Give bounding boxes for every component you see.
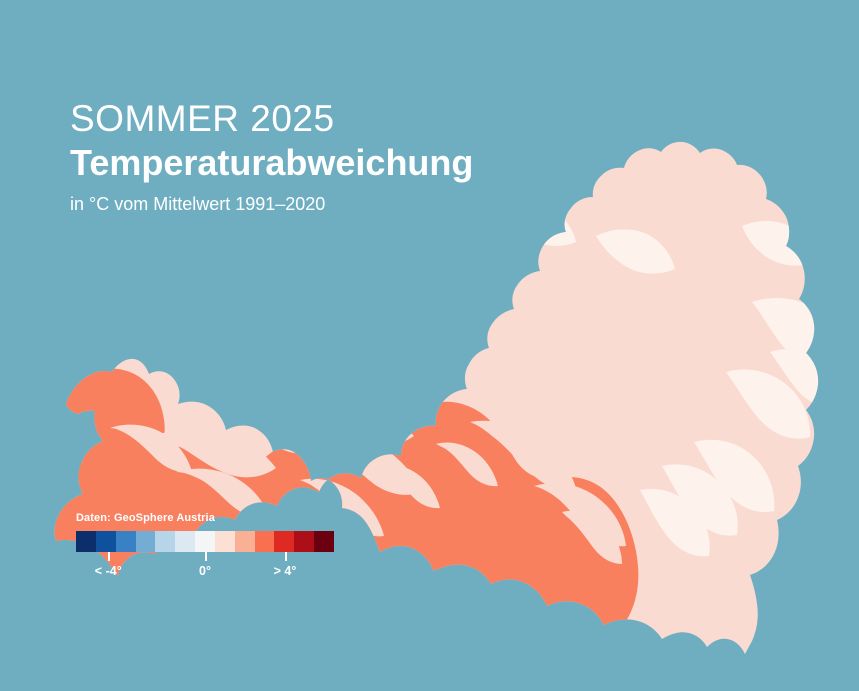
legend-swatch-7 (215, 531, 235, 552)
legend-colorbar (76, 531, 334, 552)
legend-swatch-5 (175, 531, 195, 552)
legend-tick-1 (205, 552, 207, 561)
title-block: SOMMER 2025 Temperaturabweichung in °C v… (70, 100, 473, 215)
legend-swatch-1 (96, 531, 116, 552)
legend-tick-marks (76, 552, 334, 563)
legend-tick-label-1: 0° (199, 564, 211, 578)
legend-swatch-9 (255, 531, 275, 552)
legend-swatch-12 (314, 531, 334, 552)
legend-tick-label-0: < -4° (95, 564, 122, 578)
season-label: SOMMER 2025 (70, 100, 473, 139)
legend-swatch-10 (274, 531, 294, 552)
legend-tick-0 (108, 552, 110, 561)
legend-tick-labels: < -4°0°> 4° (76, 564, 334, 582)
legend-swatch-3 (136, 531, 156, 552)
legend-tick-2 (285, 552, 287, 561)
legend-tick-label-2: > 4° (274, 564, 297, 578)
page-title: Temperaturabweichung (70, 143, 473, 183)
legend-swatch-6 (195, 531, 215, 552)
legend-swatch-0 (76, 531, 96, 552)
legend-swatch-4 (155, 531, 175, 552)
legend-swatch-2 (116, 531, 136, 552)
data-source-credit: Daten: GeoSphere Austria (76, 512, 340, 524)
legend-swatch-8 (235, 531, 255, 552)
legend: Daten: GeoSphere Austria < -4°0°> 4° (76, 512, 340, 582)
infographic-canvas: SOMMER 2025 Temperaturabweichung in °C v… (0, 0, 859, 691)
page-subtitle: in °C vom Mittelwert 1991–2020 (70, 194, 473, 215)
legend-swatch-11 (294, 531, 314, 552)
